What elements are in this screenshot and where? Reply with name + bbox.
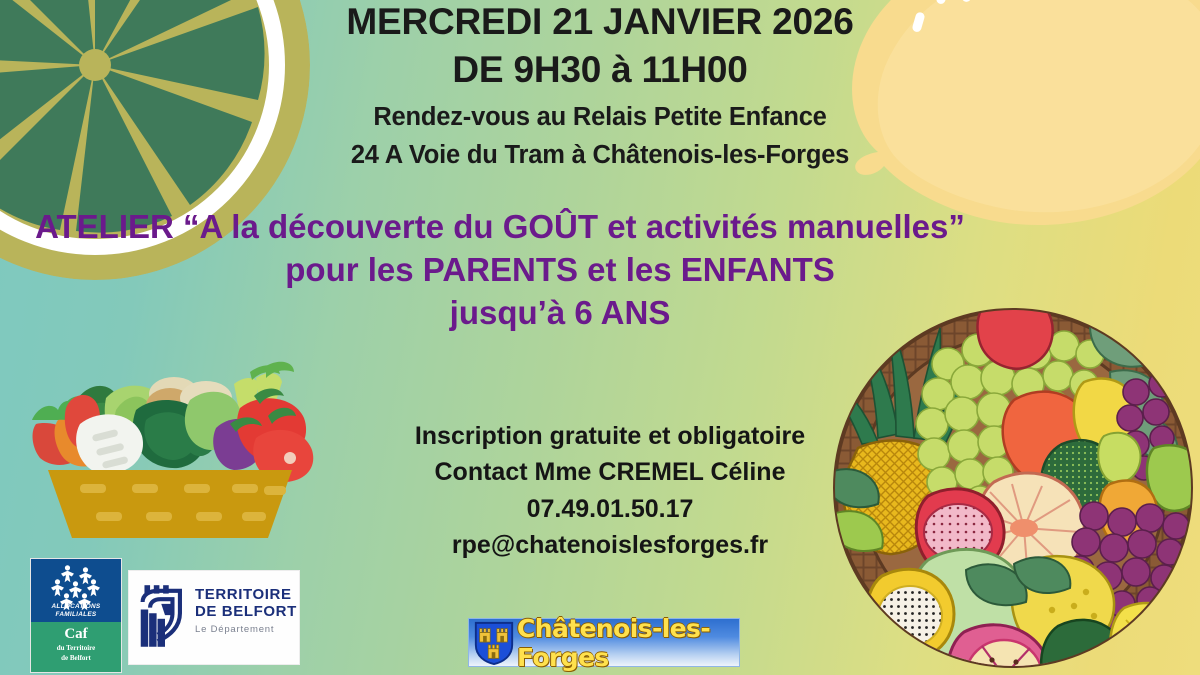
event-time: DE 9H30 à 11H00: [300, 50, 900, 89]
chatenois-les-forges-logo: Châtenois-les-Forges: [468, 618, 740, 667]
contact-block: Inscription gratuite et obligatoire Cont…: [300, 418, 920, 563]
chatenois-coat-of-arms-icon: [472, 620, 516, 665]
workshop-title-line1: ATELIER “A la découverte du GOÛT et acti…: [0, 206, 1000, 249]
territoire-de-belfort-logo: TERRITOIRE DE BELFORT Le Département: [128, 570, 300, 665]
belfort-shield-icon: [137, 585, 193, 647]
workshop-title-line3: jusqu’à 6 ANS: [0, 292, 1000, 335]
town-name-text: Châtenois-les-Forges: [517, 622, 733, 663]
caf-territory-line2: de Belfort: [31, 654, 121, 662]
caf-familiales-text: FAMILIALES: [31, 611, 121, 618]
workshop-title: ATELIER “A la découverte du GOÛT et acti…: [0, 206, 1000, 335]
caf-logo: ALLOCATIONS FAMILIALES Caf du Territoire…: [30, 558, 122, 673]
registration-note: Inscription gratuite et obligatoire: [300, 418, 920, 454]
event-date: MERCREDI 21 JANVIER 2026: [300, 2, 900, 41]
caf-logo-bottom: Caf du Territoire de Belfort: [31, 622, 121, 672]
poster-canvas: MERCREDI 21 JANVIER 2026 DE 9H30 à 11H00…: [0, 0, 1200, 675]
territoire-line3: Le Département: [195, 624, 297, 635]
contact-email: rpe@chatenoislesforges.fr: [300, 527, 920, 563]
caf-territory-line1: du Territoire: [31, 644, 121, 652]
workshop-title-line2: pour les PARENTS et les ENFANTS: [0, 249, 1000, 292]
caf-logo-top: ALLOCATIONS FAMILIALES: [31, 559, 121, 622]
vegetable-basket-illustration: [18, 358, 318, 543]
caf-name: Caf: [31, 626, 121, 643]
event-venue: Rendez-vous au Relais Petite Enfance: [280, 104, 920, 131]
contact-phone: 07.49.01.50.17: [300, 491, 920, 527]
territoire-logo-text: TERRITOIRE DE BELFORT Le Département: [195, 587, 297, 635]
territoire-line1: TERRITOIRE: [195, 587, 297, 604]
event-address: 24 A Voie du Tram à Châtenois-les-Forges: [260, 142, 940, 169]
caf-allocations-text: ALLOCATIONS: [31, 603, 121, 610]
territoire-line2: DE BELFORT: [195, 604, 297, 621]
contact-person: Contact Mme CREMEL Céline: [300, 454, 920, 490]
